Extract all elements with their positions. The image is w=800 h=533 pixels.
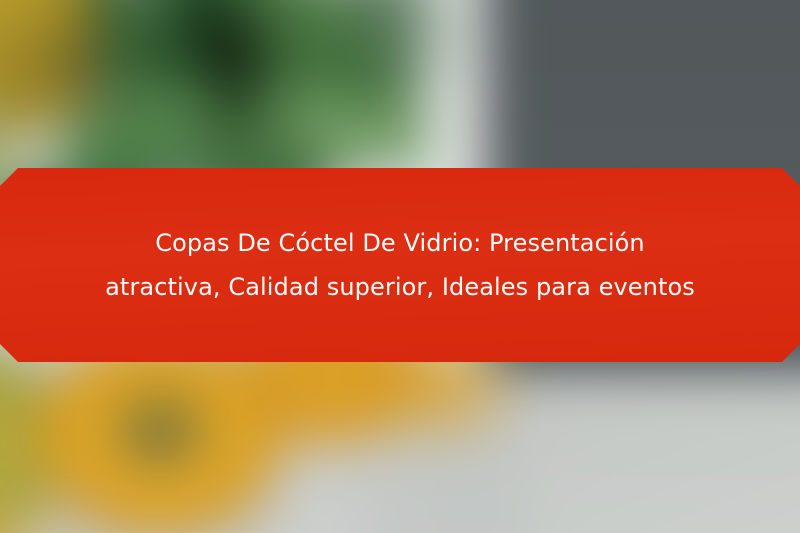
hero-banner-image: Copas De Cóctel De Vidrio: Presentación … — [0, 0, 800, 533]
title-banner: Copas De Cóctel De Vidrio: Presentación … — [0, 168, 800, 362]
fruit-slice-core — [115, 395, 205, 467]
page-title-line-2: atractiva, Calidad superior, Ideales par… — [40, 265, 760, 309]
page-title-line-1: Copas De Cóctel De Vidrio: Presentación — [40, 221, 760, 265]
page-title: Copas De Cóctel De Vidrio: Presentación … — [0, 221, 800, 309]
